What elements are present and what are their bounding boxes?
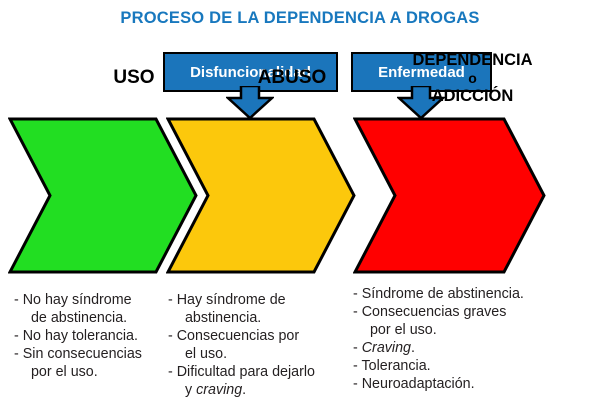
list-item: - Dificultad para dejarlo y craving. — [168, 363, 354, 399]
bullet-list-abuso: - Hay síndrome de abstinencia. - Consecu… — [168, 291, 354, 399]
process-diagram: PROCESO DE LA DEPENDENCIA A DROGAS Disfu… — [0, 0, 600, 403]
list-item: - Síndrome de abstinencia. — [353, 285, 593, 303]
bullet-list-dependencia: - Síndrome de abstinencia. - Consecuenci… — [353, 285, 593, 393]
list-item: - No hay síndrome de abstinencia. — [14, 291, 174, 327]
list-item: - Tolerancia. — [353, 357, 593, 375]
list-item: - No hay tolerancia. — [14, 327, 174, 345]
list-item: - Hay síndrome de abstinencia. — [168, 291, 354, 327]
down-arrow-icon-enfermedad — [397, 86, 445, 120]
down-arrow-icon-disfuncionalidad — [226, 86, 274, 120]
list-item: - Sin consecuencias por el uso. — [14, 345, 174, 381]
list-item: - Neuroadaptación. — [353, 375, 593, 393]
list-item: - Craving. — [353, 339, 593, 357]
page-title: PROCESO DE LA DEPENDENCIA A DROGAS — [0, 9, 600, 28]
list-item: - Consecuencias por el uso. — [168, 327, 354, 363]
callout-label-disfuncionalidad: Disfuncionalidad — [190, 65, 311, 80]
list-item: - Consecuencias graves por el uso. — [353, 303, 593, 339]
stage-shape-dependencia — [353, 117, 546, 274]
stage-label-uso-text: USO — [113, 67, 154, 89]
callout-label-enfermedad: Enfermedad — [378, 65, 465, 80]
stage-shape-abuso — [166, 117, 356, 274]
bullet-list-uso: - No hay síndrome de abstinencia. - No h… — [14, 291, 174, 381]
